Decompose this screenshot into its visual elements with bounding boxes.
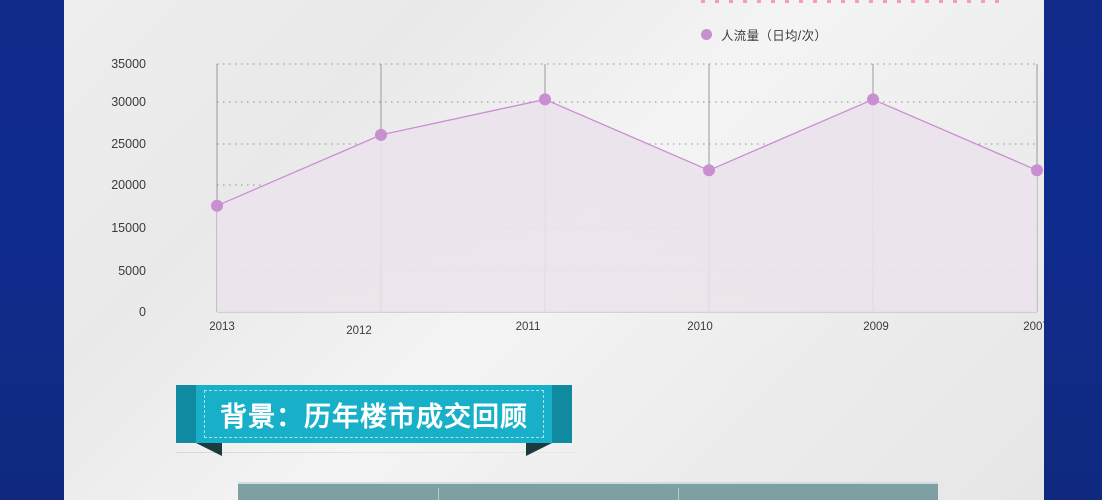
x-tick-label: 2007 [1023,321,1044,333]
x-tick-label: 2010 [687,321,713,333]
x-tick-label: 2013 [209,321,235,333]
banner-title: 背景：历年楼市成交回顾 [196,385,552,443]
ribbon-shadow-right [526,443,552,456]
ribbon-zigzag-left [176,385,186,443]
content-panel: 人流量（日均/次） 35000 30000 25000 20000 15000 … [64,0,1044,500]
section-banner: 背景：历年楼市成交回顾 [176,385,572,447]
table-column-divider [438,488,439,500]
x-tick-label: 2012 [346,325,372,337]
table-header-strip [238,482,938,500]
line-chart: 35000 30000 25000 20000 15000 5000 0 201… [64,0,1044,360]
section-divider [176,452,576,453]
ribbon-body: 背景：历年楼市成交回顾 [196,385,552,443]
table-column-divider [678,488,679,500]
x-tick-label: 2009 [863,321,889,333]
chart-plot-area [64,0,1044,360]
ribbon-zigzag-right [562,385,572,443]
ribbon-shadow-left [196,443,222,456]
x-tick-label: 2011 [516,321,541,333]
